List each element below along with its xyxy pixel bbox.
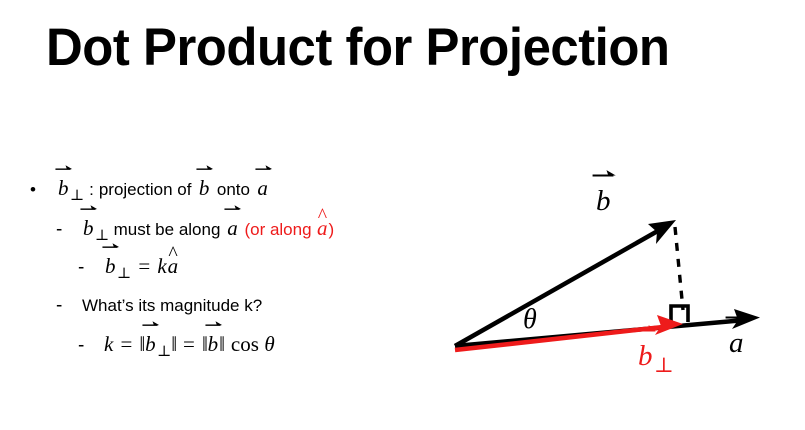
diagram-label-vector-b: b — [595, 187, 612, 216]
text-question-magnitude: What’s its magnitude k? — [82, 297, 262, 314]
list-item: - b⊥must be alonga(or along^a) — [56, 218, 450, 256]
hat-icon: ^ — [318, 207, 327, 227]
vector-arrow-icon — [197, 163, 214, 172]
math-theta: θ — [264, 332, 274, 356]
list-item: - What’s its magnitude k? — [56, 296, 450, 334]
vector-projection-diagram: b a θ b⊥ — [435, 170, 795, 405]
vector-accent-a: a — [226, 218, 239, 239]
math-norm-close-1: ‖ — [171, 334, 176, 355]
math-b-perp: b⊥ — [57, 176, 84, 200]
math-a: a — [226, 216, 239, 240]
equation-b-perp-equals-k-a-hat: b⊥=k^a — [104, 256, 179, 282]
diagram-label-vector-a: a — [728, 329, 745, 358]
math-a-hat-red: ^a — [316, 216, 329, 240]
diagram-label-a-text: a — [729, 327, 744, 359]
math-var-k: k — [104, 332, 113, 356]
math-equals-1: = — [120, 332, 132, 356]
math-norm-close-2: ‖ — [219, 334, 224, 355]
text-must-be-along: must be along — [114, 220, 221, 239]
text-projection-of: projection of — [99, 180, 192, 199]
vector-accent-b2: b — [207, 334, 220, 355]
math-sub-perp: ⊥ — [157, 345, 171, 360]
list-item-content: b⊥:projection ofbontoa — [57, 178, 269, 204]
math-var-a: a — [227, 216, 238, 240]
hat-accent-a: ^a — [316, 218, 329, 239]
diagram-label-b-perp-text: b — [638, 340, 653, 372]
dash-marker: - — [56, 296, 82, 315]
dash-marker: - — [78, 258, 104, 277]
vector-accent-b: b — [57, 178, 70, 199]
text-onto: onto — [217, 180, 250, 199]
math-var-b: b — [105, 254, 116, 278]
vector-accent-b: b — [82, 218, 95, 239]
vector-accent-b: b — [104, 256, 117, 277]
equation-k-equals-norm-b-perp: k=‖b⊥‖=‖b‖cosθ — [104, 334, 275, 360]
page-title: Dot Product for Projection — [46, 18, 670, 78]
bullet-list: • b⊥:projection ofbontoa - b⊥must be alo… — [30, 178, 450, 374]
diagram-label-vector-b-perp: b⊥ — [637, 342, 674, 376]
vector-accent-a: a — [256, 178, 269, 199]
vector-arrow-icon — [56, 163, 73, 172]
math-sub-perp: ⊥ — [95, 229, 109, 244]
list-item-content: b⊥must be alonga(or along^a) — [82, 218, 334, 244]
vector-accent-a: a — [728, 329, 745, 358]
diagram-label-b-perp-sub: ⊥ — [654, 355, 674, 376]
math-var-b: b — [58, 176, 69, 200]
text-or-along-close: ) — [328, 220, 334, 239]
vector-accent-b-perp: b — [637, 342, 654, 371]
math-a: a — [256, 176, 269, 200]
vector-accent-b2: b — [198, 178, 211, 199]
diagram-label-theta: θ — [523, 306, 537, 334]
math-sub-perp: ⊥ — [70, 189, 84, 204]
math-b-perp: b⊥ — [82, 216, 109, 240]
bullet-marker: • — [30, 181, 57, 198]
hat-accent-a: ^a — [167, 256, 180, 277]
math-var-k: k — [157, 254, 166, 278]
vector-accent-b: b — [595, 187, 612, 216]
slide-canvas: Dot Product for Projection • b⊥:projecti… — [0, 0, 805, 430]
list-item: - b⊥=k^a — [78, 256, 450, 296]
dash-marker: - — [56, 220, 82, 239]
math-b: b — [198, 176, 211, 200]
colon-separator: : — [89, 180, 94, 199]
text-or-along-open: (or along — [244, 220, 311, 239]
diagram-label-b-text: b — [596, 185, 611, 217]
math-var-b2: b — [199, 176, 210, 200]
right-angle-marker-icon — [671, 306, 688, 323]
math-var-b-2: b — [208, 332, 219, 356]
math-cos: cos — [231, 332, 259, 356]
math-sub-perp: ⊥ — [117, 267, 131, 282]
math-var-b: b — [83, 216, 94, 240]
drop-line-dashed — [675, 227, 683, 310]
vector-arrow-icon — [255, 163, 272, 172]
math-equals-2: = — [183, 332, 195, 356]
list-item: - k=‖b⊥‖=‖b‖cosθ — [78, 334, 450, 374]
diagram-svg — [435, 170, 795, 405]
vector-a-shape — [455, 309, 760, 346]
vector-accent-b: b — [144, 334, 157, 355]
dash-marker: - — [78, 336, 104, 355]
math-var-a: a — [257, 176, 268, 200]
list-item: • b⊥:projection ofbontoa — [30, 178, 450, 218]
hat-icon: ^ — [168, 245, 177, 265]
math-var-b-1: b — [145, 332, 156, 356]
math-equals: = — [138, 254, 150, 278]
